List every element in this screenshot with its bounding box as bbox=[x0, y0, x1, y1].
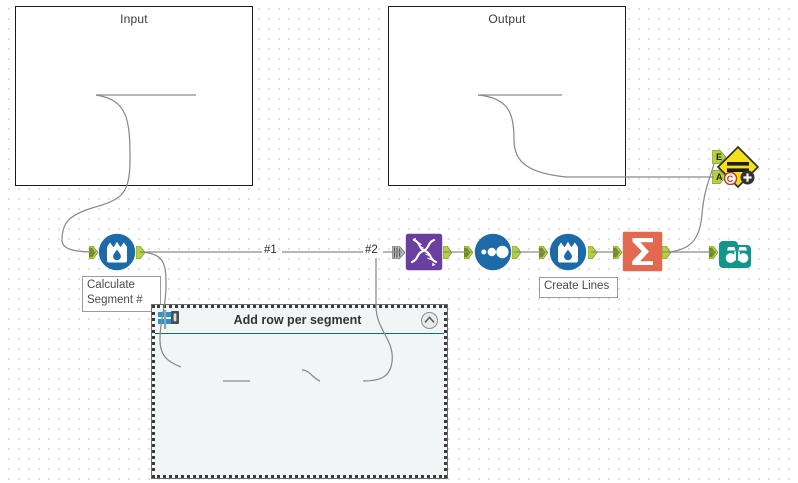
tool-container-output[interactable]: Output bbox=[388, 6, 626, 186]
input-anchor-create-lines[interactable] bbox=[539, 246, 548, 259]
svg-text:A: A bbox=[716, 172, 723, 182]
browse-binoculars-icon bbox=[718, 233, 756, 271]
svg-text:C: C bbox=[727, 174, 734, 184]
test-error-badge[interactable]: C bbox=[724, 172, 737, 185]
tool-multi-row-formula-calculate-segment[interactable] bbox=[98, 233, 136, 271]
tool-browse-final[interactable] bbox=[718, 233, 756, 271]
sample-three-dots-icon bbox=[474, 233, 512, 271]
svg-text:E: E bbox=[716, 152, 722, 162]
connection-label-2: #2 bbox=[365, 244, 378, 256]
input-anchor-browse-final[interactable] bbox=[709, 246, 718, 259]
annotation-calculate-segment: Calculate Segment # bbox=[82, 276, 161, 312]
tool-sample[interactable] bbox=[474, 233, 512, 271]
output-anchor-union[interactable] bbox=[443, 246, 452, 259]
multi-row-formula-icon bbox=[549, 233, 587, 271]
container-title: Add row per segment bbox=[185, 313, 410, 327]
union-braid-icon bbox=[405, 233, 443, 271]
tool-container-input[interactable]: Input bbox=[15, 6, 253, 186]
container-header: Add row per segment bbox=[155, 308, 444, 334]
wire-summarize-to-test-e bbox=[668, 164, 714, 252]
input-anchor-sample[interactable] bbox=[464, 246, 473, 259]
tool-container-input-title: Input bbox=[16, 12, 252, 26]
output-anchor-calculate-segment[interactable] bbox=[136, 246, 145, 259]
annotation-create-lines: Create Lines bbox=[539, 277, 618, 298]
test-add-badge[interactable] bbox=[740, 170, 755, 185]
workflow-canvas[interactable]: Input Output Add row per segment bbox=[0, 0, 798, 483]
tool-container-output-title: Output bbox=[389, 12, 625, 26]
output-anchor-create-lines[interactable] bbox=[588, 246, 597, 259]
tool-union[interactable] bbox=[405, 233, 443, 271]
input-anchor-test-e[interactable]: E bbox=[712, 150, 726, 164]
output-anchor-summarize[interactable] bbox=[662, 246, 671, 259]
tool-multi-row-formula-create-lines[interactable] bbox=[549, 233, 587, 271]
input-anchor-summarize[interactable] bbox=[613, 246, 622, 259]
multi-row-formula-icon bbox=[98, 233, 136, 271]
output-anchor-sample[interactable] bbox=[512, 246, 521, 259]
tool-summarize[interactable] bbox=[622, 231, 663, 272]
chevron-up-icon[interactable] bbox=[421, 312, 438, 329]
connection-label-1: #1 bbox=[264, 244, 277, 256]
container-toggle-icon[interactable] bbox=[158, 310, 182, 329]
input-anchor-union-multi[interactable] bbox=[392, 246, 405, 259]
summarize-sigma-icon bbox=[622, 231, 663, 272]
input-anchor-calculate-segment[interactable] bbox=[89, 246, 98, 259]
tool-container-add-row-per-segment[interactable]: Add row per segment bbox=[152, 305, 447, 478]
